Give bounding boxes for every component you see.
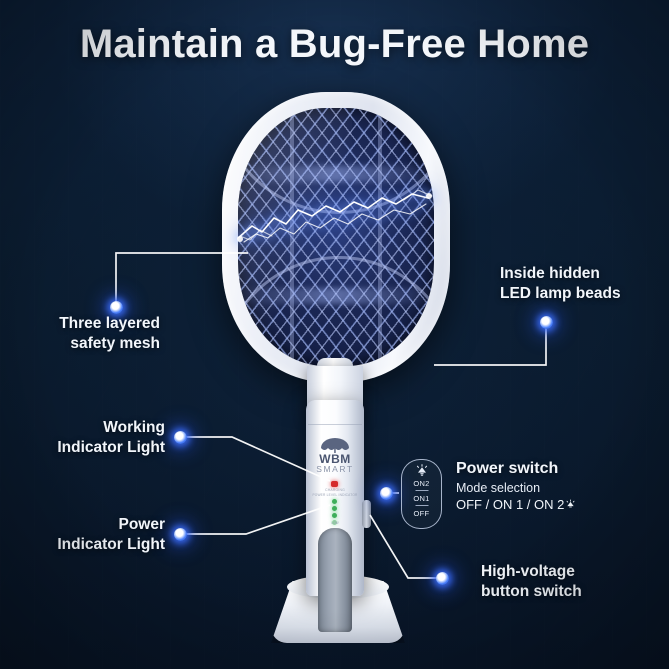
- switch-divider: [415, 505, 428, 506]
- brand-subname: SMART: [306, 464, 364, 474]
- switch-option-on2[interactable]: ON2: [402, 479, 441, 488]
- callout-line-1: Working: [10, 418, 165, 438]
- high-voltage-button[interactable]: [362, 500, 371, 528]
- switch-option-on1[interactable]: ON1: [402, 494, 441, 503]
- callout-dot-power-switch[interactable]: [380, 487, 393, 500]
- callout-line-1: Inside hidden: [500, 264, 660, 284]
- callout-line-2: Indicator Light: [10, 438, 165, 458]
- callout-dot-high-voltage-button-switch[interactable]: [436, 572, 449, 585]
- battery-dot: [332, 506, 337, 511]
- callout-line-2: Indicator Light: [10, 535, 165, 555]
- power-switch-subtitle: Mode selection: [456, 481, 540, 495]
- charging-label: CHARGING: [306, 488, 364, 492]
- battery-dot: [332, 499, 337, 504]
- callout-label-inside-hidden-led-lamp-beads: Inside hidden LED lamp beads: [500, 264, 660, 304]
- power-switch-modes-text: OFF / ON 1 / ON 2: [456, 497, 564, 512]
- callout-dot-three-layered-safety-mesh[interactable]: [110, 301, 123, 314]
- battery-dot: [332, 513, 337, 518]
- callout-dot-power-indicator-light[interactable]: [174, 528, 187, 541]
- switch-option-off[interactable]: OFF: [402, 509, 441, 518]
- charging-led: [331, 481, 338, 487]
- callout-line-1: Power: [10, 515, 165, 535]
- callout-label-high-voltage-button-switch: High-voltage button switch: [481, 562, 656, 602]
- callout-line-2: button switch: [481, 582, 656, 602]
- lamp-icon: [565, 498, 576, 513]
- callout-label-power-indicator-light: Power Indicator Light: [10, 515, 165, 555]
- callout-dot-working-indicator-light[interactable]: [174, 431, 187, 444]
- infographic-canvas: Maintain a Bug-Free Home: [0, 0, 669, 669]
- power-level-label: POWER LEVEL INDICATOR: [306, 493, 364, 497]
- callout-label-working-indicator-light: Working Indicator Light: [10, 418, 165, 458]
- switch-divider: [415, 490, 428, 491]
- power-switch-diagram[interactable]: ON2 ON1 OFF: [401, 459, 442, 529]
- handle-seam: [308, 424, 362, 425]
- callout-label-three-layered-safety-mesh: Three layered safety mesh: [10, 314, 160, 354]
- callout-line-1: High-voltage: [481, 562, 656, 582]
- handle-grip: [318, 528, 352, 632]
- umbrella-icon: [319, 437, 351, 453]
- callout-dot-inside-hidden-led-lamp-beads[interactable]: [540, 316, 553, 329]
- low-label: LOW: [306, 521, 364, 525]
- power-switch-title: Power switch: [456, 460, 558, 478]
- callout-line-2: LED lamp beads: [500, 284, 660, 304]
- callout-line-2: safety mesh: [10, 334, 160, 354]
- electric-arc: [236, 180, 446, 260]
- callout-line-1: Three layered: [10, 314, 160, 334]
- power-switch-modes: OFF / ON 1 / ON 2: [456, 497, 576, 513]
